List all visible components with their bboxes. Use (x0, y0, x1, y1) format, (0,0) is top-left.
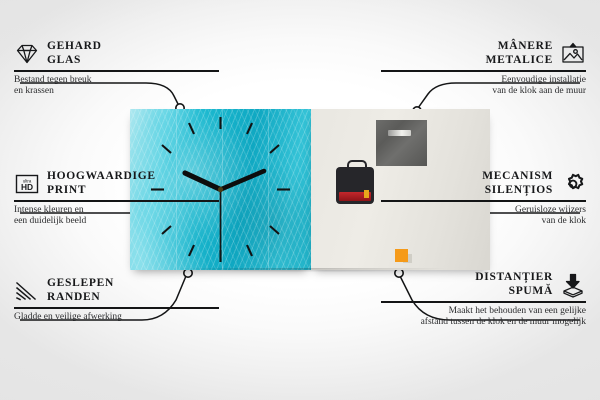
feature-desc-line1: Eenvoudige installatie (381, 75, 586, 87)
minute-hand (221, 171, 265, 190)
hanger-loop (347, 160, 367, 171)
feature-desc-line2: een duidelijk beeld (14, 216, 219, 228)
feature-manere-metalice: MÂNERE METALICE Eenvoudige installatie v… (381, 40, 586, 98)
feature-title-line2: SILENȚIOS (482, 184, 553, 198)
feature-desc-line1: Gladde en veilige afwerking (14, 312, 219, 324)
feature-mecanism-silentios: MECANISM SILENȚIOS Geruisloze wijzers va… (381, 170, 586, 228)
feature-rule (381, 301, 586, 303)
foam-spacer (395, 249, 408, 262)
feature-rule (14, 200, 219, 202)
picture-frame-icon (560, 41, 586, 67)
feature-title-line2: RANDEN (47, 291, 114, 305)
feature-title-line1: GEHARD (47, 40, 102, 54)
feature-desc-line1: Maakt het behouden van een gelijke (381, 306, 586, 318)
feature-desc-line1: Geruisloze wijzers (381, 205, 586, 217)
feature-title-line2: SPUMĂ (475, 285, 553, 299)
feature-desc-line2: afstand tussen de klok en de muur mogeli… (381, 317, 586, 329)
feature-hoogwaardige-print: ultra HD HOOGWAARDIGE PRINT Intense kleu… (14, 170, 219, 228)
feature-desc-line1: Bestand tegen breuk (14, 75, 219, 87)
feature-desc-line2: van de klok (381, 216, 586, 228)
metal-hanger-plate (376, 120, 427, 166)
feature-title-line2: PRINT (47, 184, 156, 198)
feature-title-line2: GLAS (47, 54, 102, 68)
feature-desc-line2: en krassen (14, 86, 219, 98)
feature-title-line1: MECANISM (482, 170, 553, 184)
diamond-icon (14, 41, 40, 67)
feature-gehard-glas: GEHARD GLAS Bestand tegen breuk en krass… (14, 40, 219, 98)
battery (339, 192, 371, 201)
feature-rule (14, 307, 219, 309)
feature-title-line1: MÂNERE (486, 40, 553, 54)
battery-terminal (364, 190, 369, 198)
feature-distantier-spuma: DISTANȚIER SPUMĂ Maakt het behouden van … (381, 271, 586, 329)
gear-icon (560, 171, 586, 197)
feature-title-line1: GESLEPEN (47, 277, 114, 291)
ultra-hd-big-label: HD (21, 182, 33, 192)
feature-title-line2: METALICE (486, 54, 553, 68)
hanger-slot (388, 130, 411, 136)
bevel-lines-icon (14, 278, 40, 304)
feature-rule (14, 70, 219, 72)
feature-desc-line2: van de klok aan de muur (381, 86, 586, 98)
ultra-hd-icon: ultra HD (14, 171, 40, 197)
clock-mechanism-box (336, 167, 374, 204)
feature-title-line1: DISTANȚIER (475, 271, 553, 285)
feature-title-line1: HOOGWAARDIGE (47, 170, 156, 184)
feature-geslepen-randen: GESLEPEN RANDEN Gladde en veilige afwerk… (14, 277, 219, 323)
feature-rule (381, 70, 586, 72)
spacer-arrow-icon (560, 272, 586, 298)
feature-rule (381, 200, 586, 202)
infographic-canvas: GEHARD GLAS Bestand tegen breuk en krass… (0, 0, 600, 400)
feature-desc-line1: Intense kleuren en (14, 205, 219, 217)
